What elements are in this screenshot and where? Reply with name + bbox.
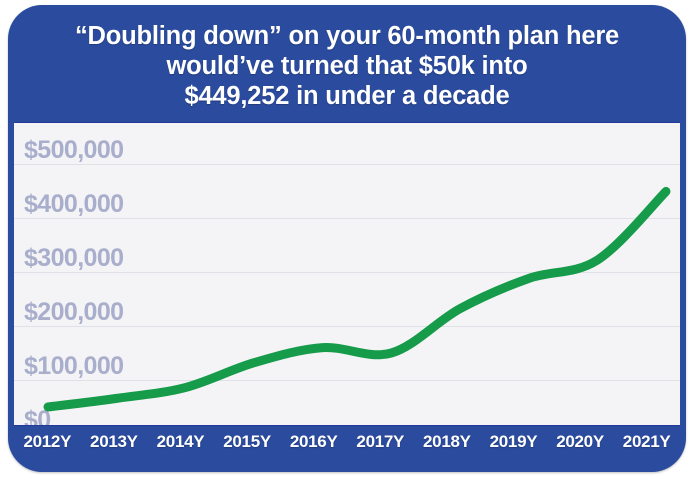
- x-axis-tick-labels: 2012Y2013Y2014Y2015Y2016Y2017Y2018Y2019Y…: [14, 429, 680, 455]
- chart-title-line-3: $449,252 in under a decade: [8, 81, 686, 111]
- series-line-account-value: [14, 123, 680, 426]
- x-axis-tick-label: 2021Y: [613, 432, 680, 452]
- x-axis-tick-label: 2016Y: [280, 432, 347, 452]
- x-axis-tick-label: 2020Y: [547, 432, 614, 452]
- x-axis-tick-label: 2019Y: [480, 432, 547, 452]
- chart-card: “Doubling down” on your 60-month plan he…: [8, 5, 686, 472]
- x-axis-tick-label: 2014Y: [147, 432, 214, 452]
- x-axis-tick-label: 2012Y: [14, 432, 81, 452]
- x-axis-tick-label: 2013Y: [81, 432, 148, 452]
- line-path: [48, 191, 666, 407]
- x-axis-tick-label: 2015Y: [214, 432, 281, 452]
- plot-area: $0$100,000$200,000$300,000$400,000$500,0…: [14, 122, 680, 426]
- x-axis-tick-label: 2017Y: [347, 432, 414, 452]
- chart-title-line-1: “Doubling down” on your 60-month plan he…: [8, 21, 686, 51]
- chart-title-line-2: would’ve turned that $50k into: [8, 51, 686, 81]
- x-axis-tick-label: 2018Y: [414, 432, 481, 452]
- chart-title: “Doubling down” on your 60-month plan he…: [8, 21, 686, 111]
